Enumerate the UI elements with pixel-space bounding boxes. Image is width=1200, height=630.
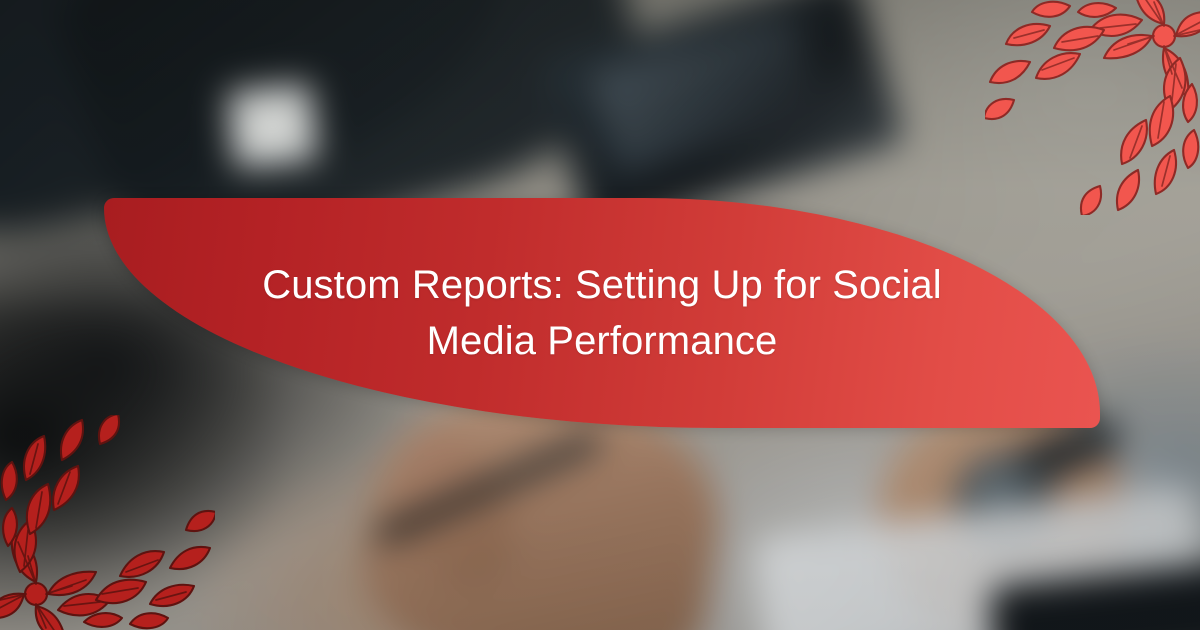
social-share-card: Custom Reports: Setting Up for Social Me… (0, 0, 1200, 630)
page-title: Custom Reports: Setting Up for Social Me… (182, 257, 1022, 369)
